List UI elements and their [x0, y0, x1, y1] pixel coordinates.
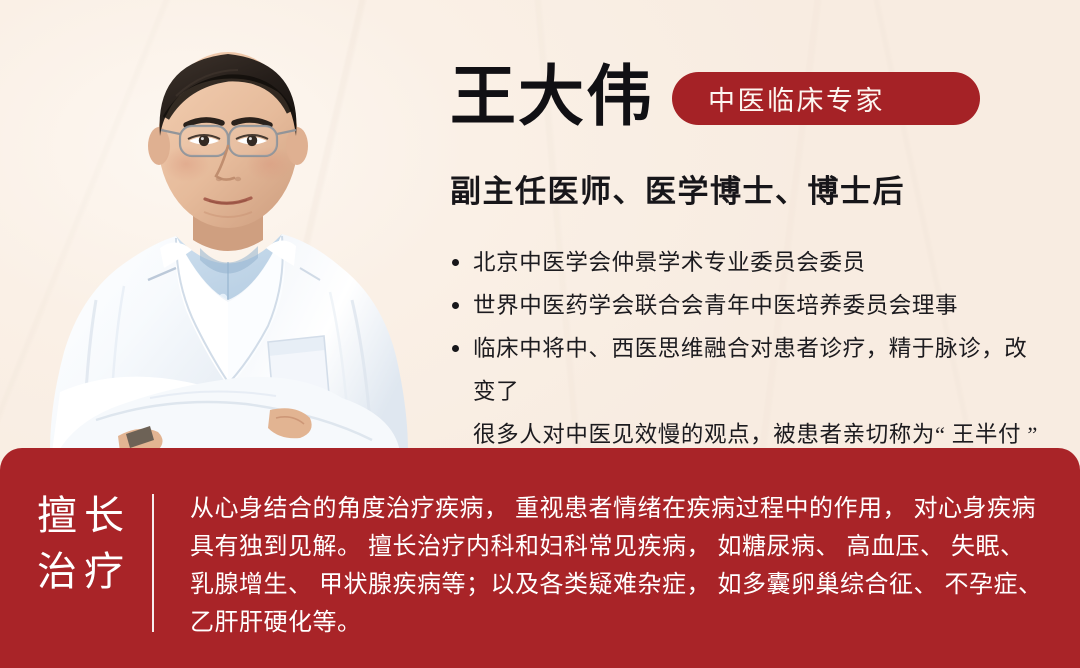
doctor-portrait-photo [0, 0, 440, 470]
credential-line: 世界中医药学会联合会青年中医培养委员会理事 [473, 284, 1050, 327]
credential-line: 北京中医学会仲景学术专业委员会委员 [473, 241, 1050, 284]
specialty-line: 具有独到见解。 擅长治疗内科和妇科常见疾病， 如糖尿病、 高血压、 失眠、 [190, 528, 1062, 566]
specialty-line: 乳腺增生、 甲状腺疾病等；以及各类疑难杂症， 如多囊卵巢综合征、 不孕症、 [190, 566, 1062, 604]
credential-item: 世界中医药学会联合会青年中医培养委员会理事 [450, 284, 1050, 327]
specialty-label-line-1: 擅长 [18, 488, 150, 544]
bullet-dot-icon [452, 345, 459, 352]
doctor-titles: 副主任医师、医学博士、博士后 [450, 166, 1050, 211]
specialty-banner-inner: 擅长 治疗 从心身结合的角度治疗疾病， 重视患者情绪在疾病过程中的作用， 对心身… [0, 448, 1080, 668]
specialty-description: 从心身结合的角度治疗疾病， 重视患者情绪在疾病过程中的作用， 对心身疾病 具有独… [154, 488, 1080, 668]
credential-item: 北京中医学会仲景学术专业委员会委员 [450, 241, 1050, 284]
doctor-profile-card: 王大伟 中医临床专家 副主任医师、医学博士、博士后 北京中医学会仲景学术专业委员… [0, 0, 1080, 668]
specialty-badge: 中医临床专家 [672, 72, 980, 125]
credential-line: 临床中将中、西医思维融合对患者诊疗，精于脉诊，改变了 [473, 327, 1050, 413]
bullet-dot-icon [452, 302, 459, 309]
specialty-label-line-2: 治疗 [18, 544, 150, 600]
credentials-list: 北京中医学会仲景学术专业委员会委员 世界中医药学会联合会青年中医培养委员会理事 … [450, 241, 1050, 456]
name-row: 王大伟 中医临床专家 [450, 52, 1050, 144]
credential-item: 临床中将中、西医思维融合对患者诊疗，精于脉诊，改变了 很多人对中医见效慢的观点，… [450, 327, 1050, 456]
bullet-dot-icon [452, 259, 459, 266]
doctor-name: 王大伟 [450, 65, 654, 131]
specialty-label: 擅长 治疗 [0, 488, 150, 668]
specialty-line: 乙肝肝硬化等。 [190, 604, 1062, 642]
specialty-line: 从心身结合的角度治疗疾病， 重视患者情绪在疾病过程中的作用， 对心身疾病 [190, 490, 1062, 528]
profile-info-block: 王大伟 中医临床专家 副主任医师、医学博士、博士后 北京中医学会仲景学术专业委员… [450, 52, 1050, 472]
specialty-banner: 擅长 治疗 从心身结合的角度治疗疾病， 重视患者情绪在疾病过程中的作用， 对心身… [0, 448, 1080, 668]
